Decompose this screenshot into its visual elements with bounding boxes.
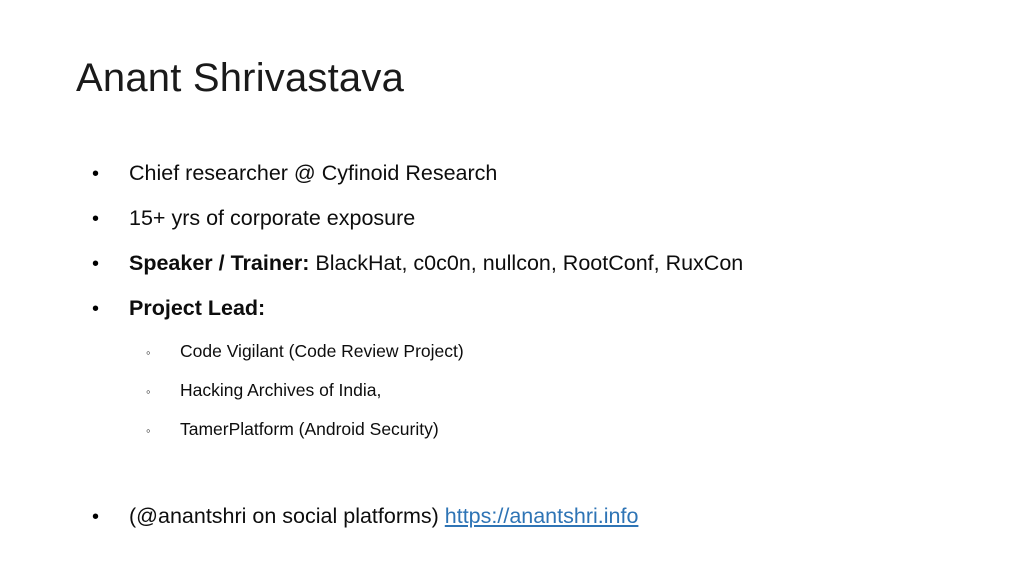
sub-list-item: TamerPlatform (Android Security) (76, 418, 976, 452)
sub-list-item: Code Vigilant (Code Review Project) (76, 340, 976, 374)
sub-list-item-label: TamerPlatform (Android Security) (180, 418, 439, 440)
sub-list-item-label: Hacking Archives of India, (180, 379, 381, 401)
social-handle-label: (@anantshri on social platforms) (129, 504, 445, 528)
list-item-label: Chief researcher @ Cyfinoid Research (129, 160, 497, 188)
sub-list-item-label: Code Vigilant (Code Review Project) (180, 340, 464, 362)
list-item: Project Lead: (76, 295, 976, 334)
list-item-label: Project Lead: (129, 295, 265, 323)
list-item: 15+ yrs of corporate exposure (76, 205, 976, 244)
bullet-disc-icon (76, 164, 129, 184)
bullet-disc-icon (76, 209, 129, 229)
bullet-circle-icon (76, 424, 180, 437)
bullet-disc-icon (76, 254, 129, 274)
website-link[interactable]: https://anantshri.info (445, 504, 639, 528)
sub-list-item: Hacking Archives of India, (76, 379, 976, 413)
list-item-label: 15+ yrs of corporate exposure (129, 205, 415, 233)
page-title: Anant Shrivastava (76, 56, 404, 101)
bullet-circle-icon (76, 385, 180, 398)
slide-body-list: Chief researcher @ Cyfinoid Research 15+… (76, 160, 976, 548)
list-item-contact: (@anantshri on social platforms) https:/… (76, 503, 976, 542)
list-item: Speaker / Trainer: BlackHat, c0c0n, null… (76, 250, 976, 289)
list-spacer (76, 457, 976, 503)
list-item-lead: Project Lead: (129, 296, 265, 320)
contact-line: (@anantshri on social platforms) https:/… (129, 503, 638, 531)
list-item-detail: BlackHat, c0c0n, nullcon, RootConf, RuxC… (309, 251, 743, 275)
presentation-slide: Anant Shrivastava Chief researcher @ Cyf… (0, 0, 1024, 576)
list-item-label: Speaker / Trainer: BlackHat, c0c0n, null… (129, 250, 743, 278)
bullet-circle-icon (76, 346, 180, 359)
bullet-disc-icon (76, 299, 129, 319)
list-item-lead: Speaker / Trainer: (129, 251, 309, 275)
bullet-disc-icon (76, 507, 129, 527)
list-item: Chief researcher @ Cyfinoid Research (76, 160, 976, 199)
